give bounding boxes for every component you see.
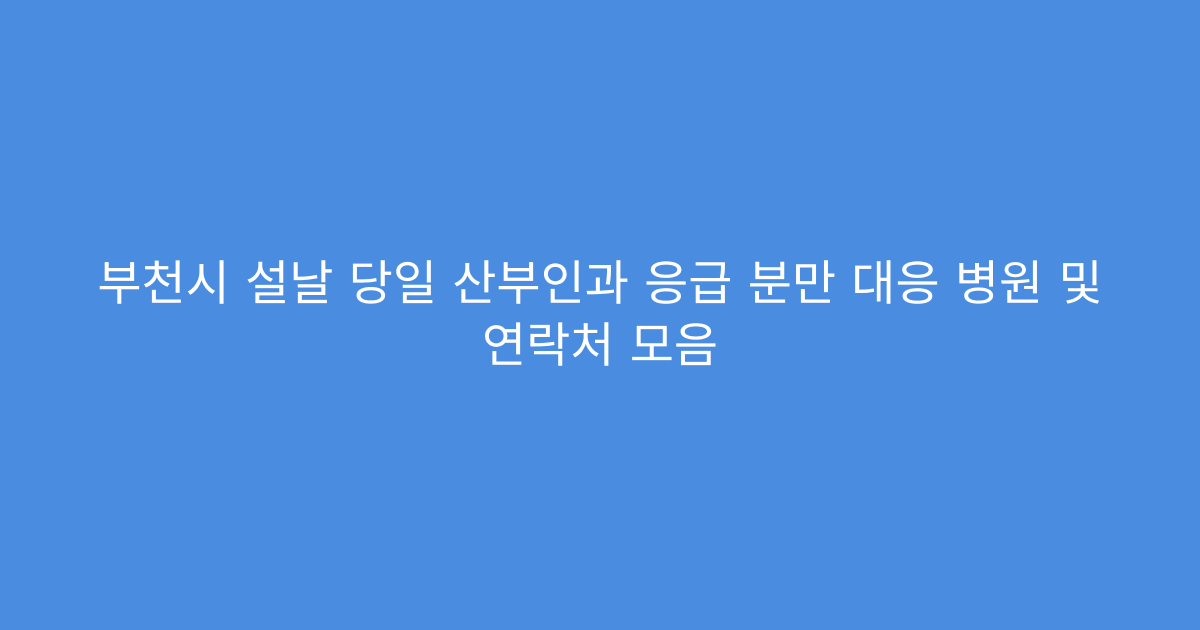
page-title: 부천시 설날 당일 산부인과 응급 분만 대응 병원 및 연락처 모음	[64, 253, 1136, 377]
headline-block: 부천시 설날 당일 산부인과 응급 분만 대응 병원 및 연락처 모음	[0, 253, 1200, 377]
og-card: 부천시 설날 당일 산부인과 응급 분만 대응 병원 및 연락처 모음	[0, 0, 1200, 630]
